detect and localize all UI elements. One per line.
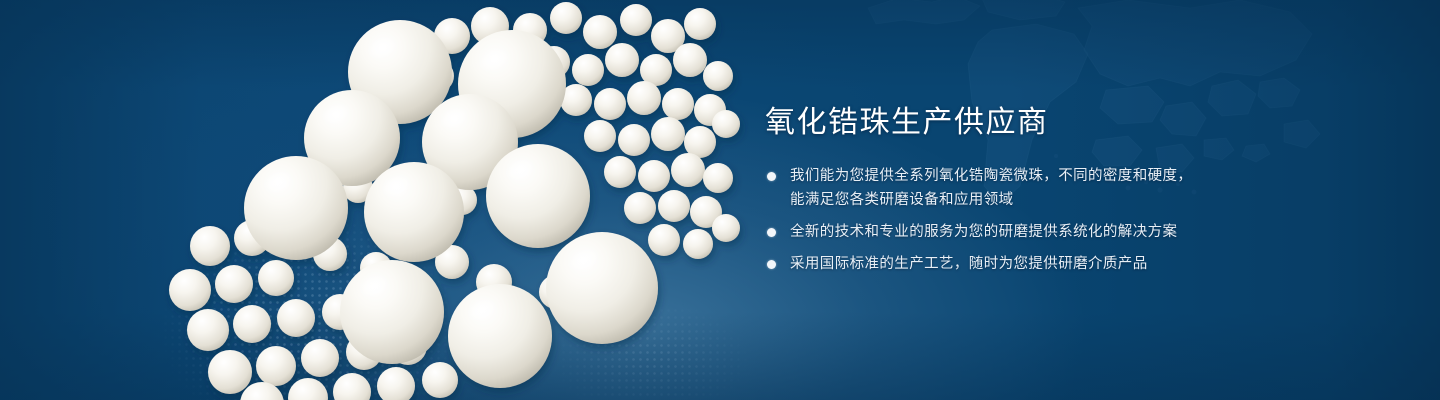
bullet-dot-icon [767,260,776,269]
list-item: 我们能为您提供全系列氧化锆陶瓷微珠，不同的密度和硬度， 能满足您各类研磨设备和应… [765,164,1385,212]
list-item-line1: 我们能为您提供全系列氧化锆陶瓷微珠，不同的密度和硬度， [790,164,1385,188]
list-item: 采用国际标准的生产工艺，随时为您提供研磨介质产品 [765,252,1385,276]
hero-banner: 氧化锆珠生产供应商 我们能为您提供全系列氧化锆陶瓷微珠，不同的密度和硬度， 能满… [0,0,1440,400]
list-item-line2: 能满足您各类研磨设备和应用领域 [790,188,1385,212]
page-title: 氧化锆珠生产供应商 [765,104,1385,142]
list-item-line1: 采用国际标准的生产工艺，随时为您提供研磨介质产品 [790,252,1385,276]
list-item-line1: 全新的技术和专业的服务为您的研磨提供系统化的解决方案 [790,220,1385,244]
feature-list: 我们能为您提供全系列氧化锆陶瓷微珠，不同的密度和硬度， 能满足您各类研磨设备和应… [765,164,1385,276]
list-item: 全新的技术和专业的服务为您的研磨提供系统化的解决方案 [765,220,1385,244]
zirconia-beads-image [0,0,760,400]
bullet-dot-icon [767,228,776,237]
bullet-dot-icon [767,172,776,181]
banner-copy: 氧化锆珠生产供应商 我们能为您提供全系列氧化锆陶瓷微珠，不同的密度和硬度， 能满… [765,104,1385,276]
